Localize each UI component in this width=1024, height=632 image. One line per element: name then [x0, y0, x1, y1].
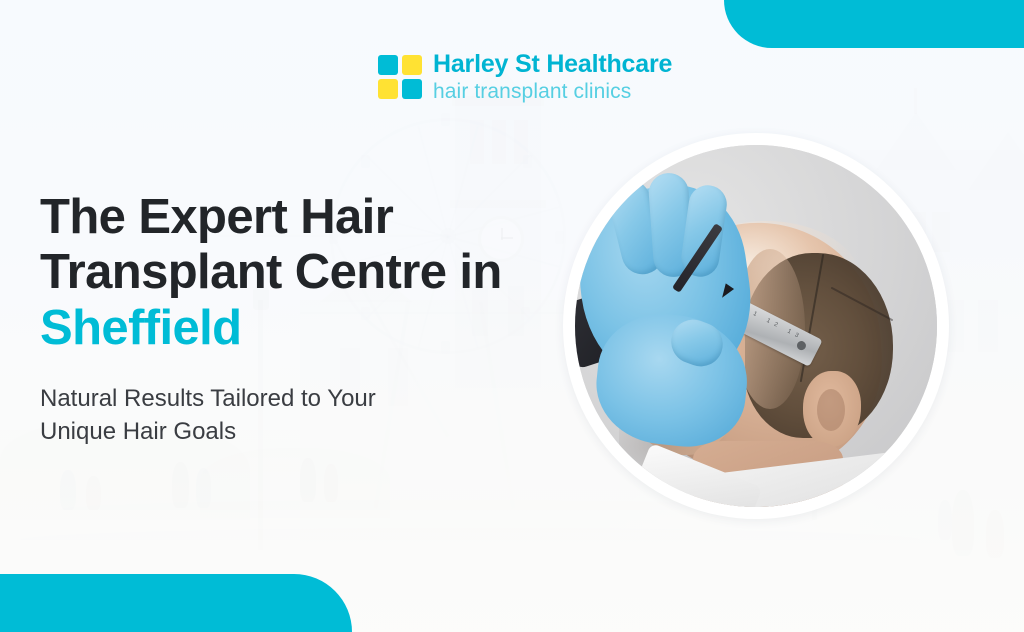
hero-photo: 9 10 11 12 13 14 15: [575, 145, 937, 507]
logo-brand-tagline: hair transplant clinics: [433, 81, 672, 102]
corner-accent-bottom-left: [0, 574, 352, 632]
patient-ear-inner: [817, 389, 845, 431]
logo-wordmark: Harley St Healthcare hair transplant cli…: [433, 52, 672, 102]
logo-brand-name: Harley St Healthcare: [433, 52, 672, 77]
logo-tile-bottom-right: [402, 79, 422, 99]
headline-line-2: Transplant Centre in: [40, 245, 502, 299]
logo-tile-bottom-left: [378, 79, 398, 99]
logo-tile-top-left: [378, 55, 398, 75]
hero-copy: The Expert Hair Transplant Centre in She…: [40, 190, 580, 448]
logo-tile-top-right: [402, 55, 422, 75]
hero-subheading: Natural Results Tailored to Your Unique …: [40, 382, 580, 448]
logo-tile-grid-icon: [378, 55, 422, 99]
corner-accent-top-right: [724, 0, 1024, 48]
page-title: The Expert Hair Transplant Centre in She…: [40, 190, 580, 356]
brand-logo[interactable]: Harley St Healthcare hair transplant cli…: [378, 52, 672, 102]
hero-banner: Harley St Healthcare hair transplant cli…: [0, 0, 1024, 632]
headline-line-1: The Expert Hair: [40, 190, 393, 244]
subheading-line-1: Natural Results Tailored to Your: [40, 385, 376, 412]
subheading-line-2: Unique Hair Goals: [40, 418, 236, 445]
headline-city: Sheffield: [40, 301, 580, 356]
